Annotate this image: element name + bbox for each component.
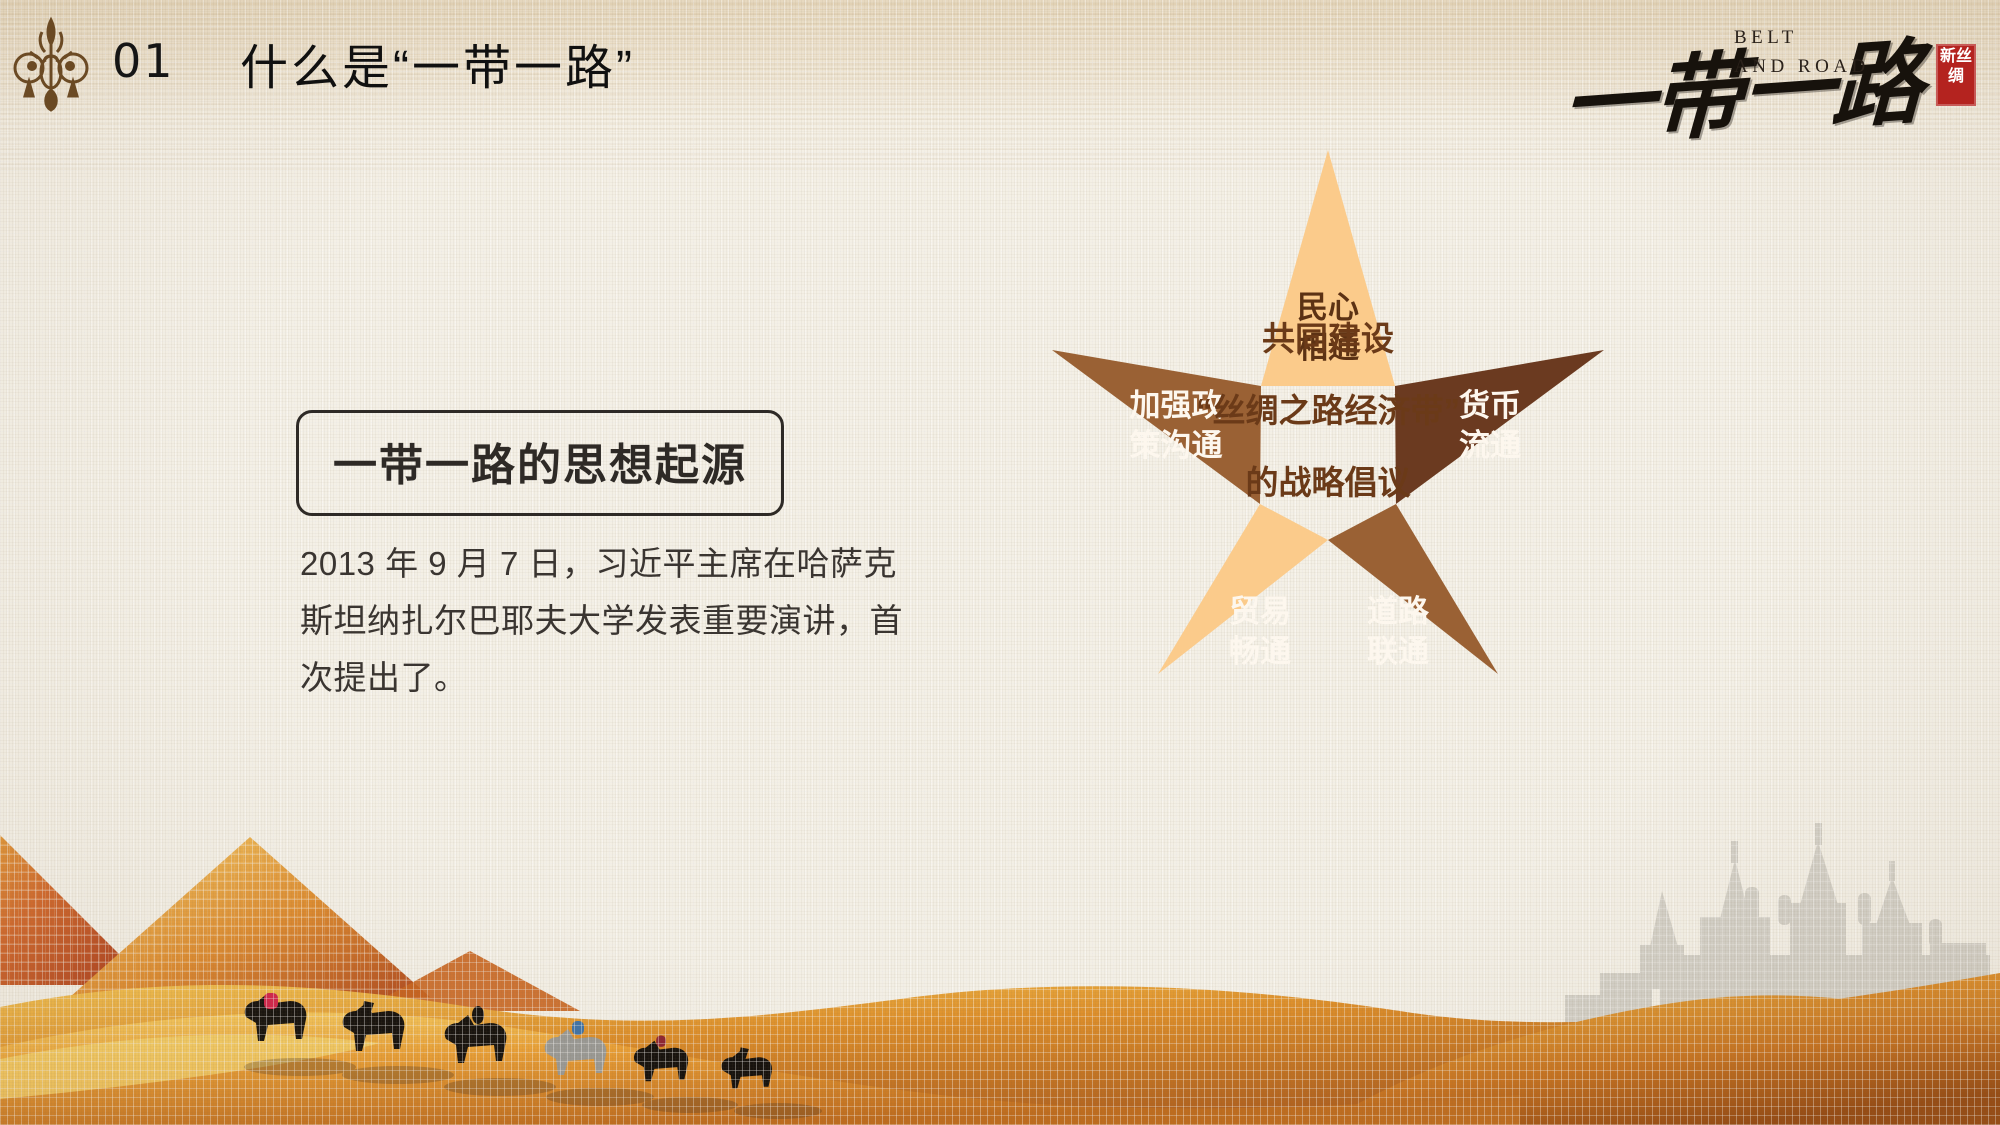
star-label-bottom-left: 贸易 畅通 (1229, 594, 1291, 669)
logo-english: BELT AND ROAD (1734, 24, 1870, 81)
red-seal-stamp: 新丝绸 (1936, 44, 1976, 106)
logo-english-line2: AND ROAD (1734, 53, 1870, 82)
page-title: 什么是“一带一路” (240, 28, 635, 98)
star-label-bl-line2: 畅通 (1229, 634, 1291, 669)
star-label-br-line2: 联通 (1367, 634, 1429, 669)
desert-scenery (0, 655, 2000, 1125)
star-center-line3: 的战略倡议 (1246, 464, 1412, 501)
star-label-right-line2: 流通 (1459, 428, 1521, 463)
body-paragraph: 2013 年 9 月 7 日，习近平主席在哈萨克斯坦纳扎尔巴耶夫大学发表重要演讲… (300, 536, 922, 706)
five-point-star-diagram: 民心 相通 加强政 策沟通 货币 流通 贸易 畅通 道路 联通 共同建设 (930, 100, 1750, 680)
star-label-br-line1: 道路 (1367, 594, 1430, 629)
glass-pyramid-icon (0, 805, 580, 1011)
fleur-de-lis-ornament-icon (12, 14, 90, 112)
section-number: 01 (112, 34, 175, 88)
star-center-line2: “丝绸之路经济带” (1196, 392, 1460, 429)
star-label-right-line1: 货币 (1459, 388, 1521, 423)
star-center-line1: 共同建设 (1262, 320, 1394, 357)
belt-and-road-logo: 一带一路 BELT AND ROAD 新丝绸 (1562, 2, 1982, 152)
logo-english-line1: BELT (1734, 24, 1870, 53)
section-title-box: 一带一路的思想起源 (296, 410, 784, 516)
star-label-bl-line1: 贸易 (1229, 594, 1291, 629)
star-label-bottom-right: 道路 联通 (1367, 594, 1430, 669)
slide-canvas: 01 什么是“一带一路” 一带一路 BELT AND ROAD 新丝绸 一带一路… (0, 0, 2000, 1125)
star-label-left-line2: 策沟通 (1130, 428, 1223, 463)
